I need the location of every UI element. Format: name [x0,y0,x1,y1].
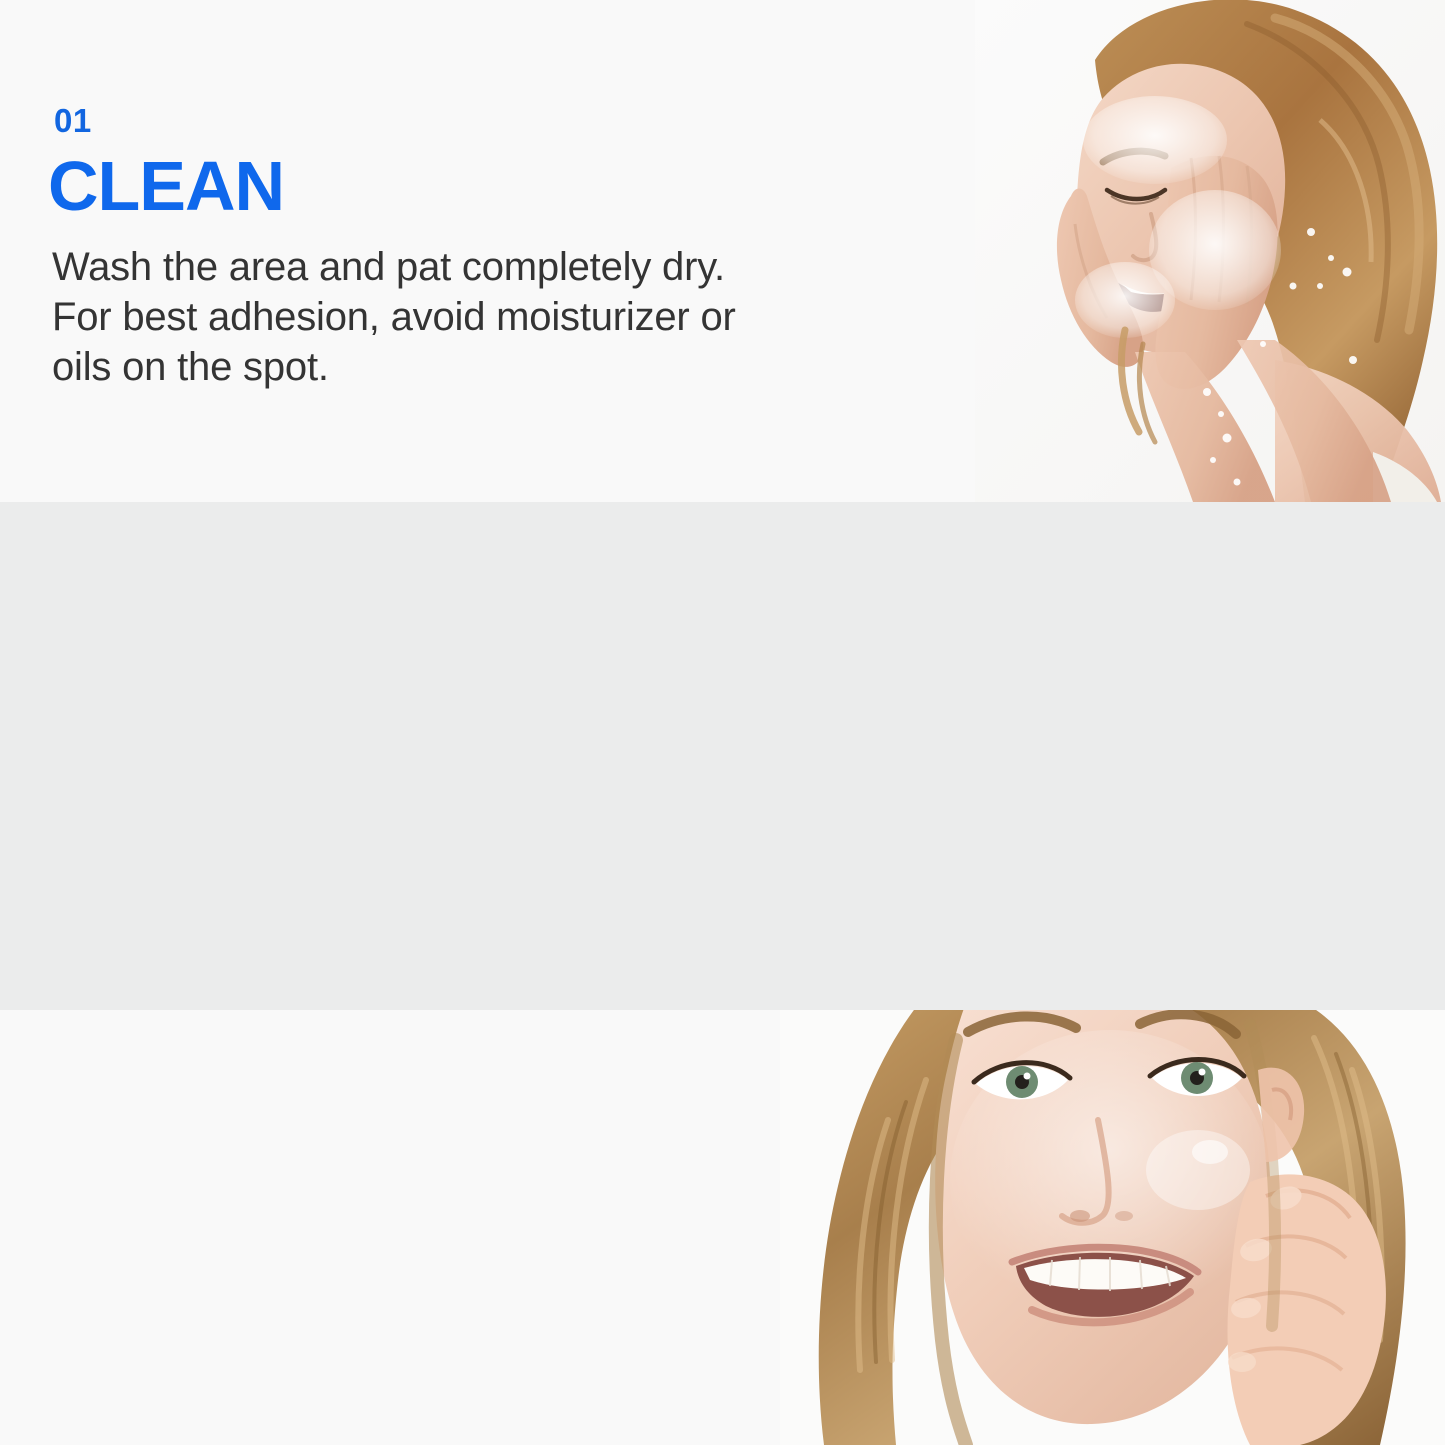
step-title-clean: CLEAN [48,153,752,220]
how-to-use-instructions-graphic: 01 CLEAN Wash the area and pat completel… [0,0,1445,1445]
step-body-clean: Wash the area and pat completely dry. Fo… [52,242,752,392]
step-section-apply-and-wait: 02 APPLY & WAIT Place the patch directly… [0,502,1445,1010]
step-section-reveal: 03 REVEAL Peel off gently. Replace as ne… [0,1010,1445,1445]
photo-smiling-woman-clear-skin [780,1010,1445,1445]
step-copy-clean: 01 CLEAN Wash the area and pat completel… [52,104,752,392]
step-number-01: 01 [54,104,752,137]
step-section-clean: 01 CLEAN Wash the area and pat completel… [0,0,1445,502]
photo-woman-washing-face [975,0,1445,502]
